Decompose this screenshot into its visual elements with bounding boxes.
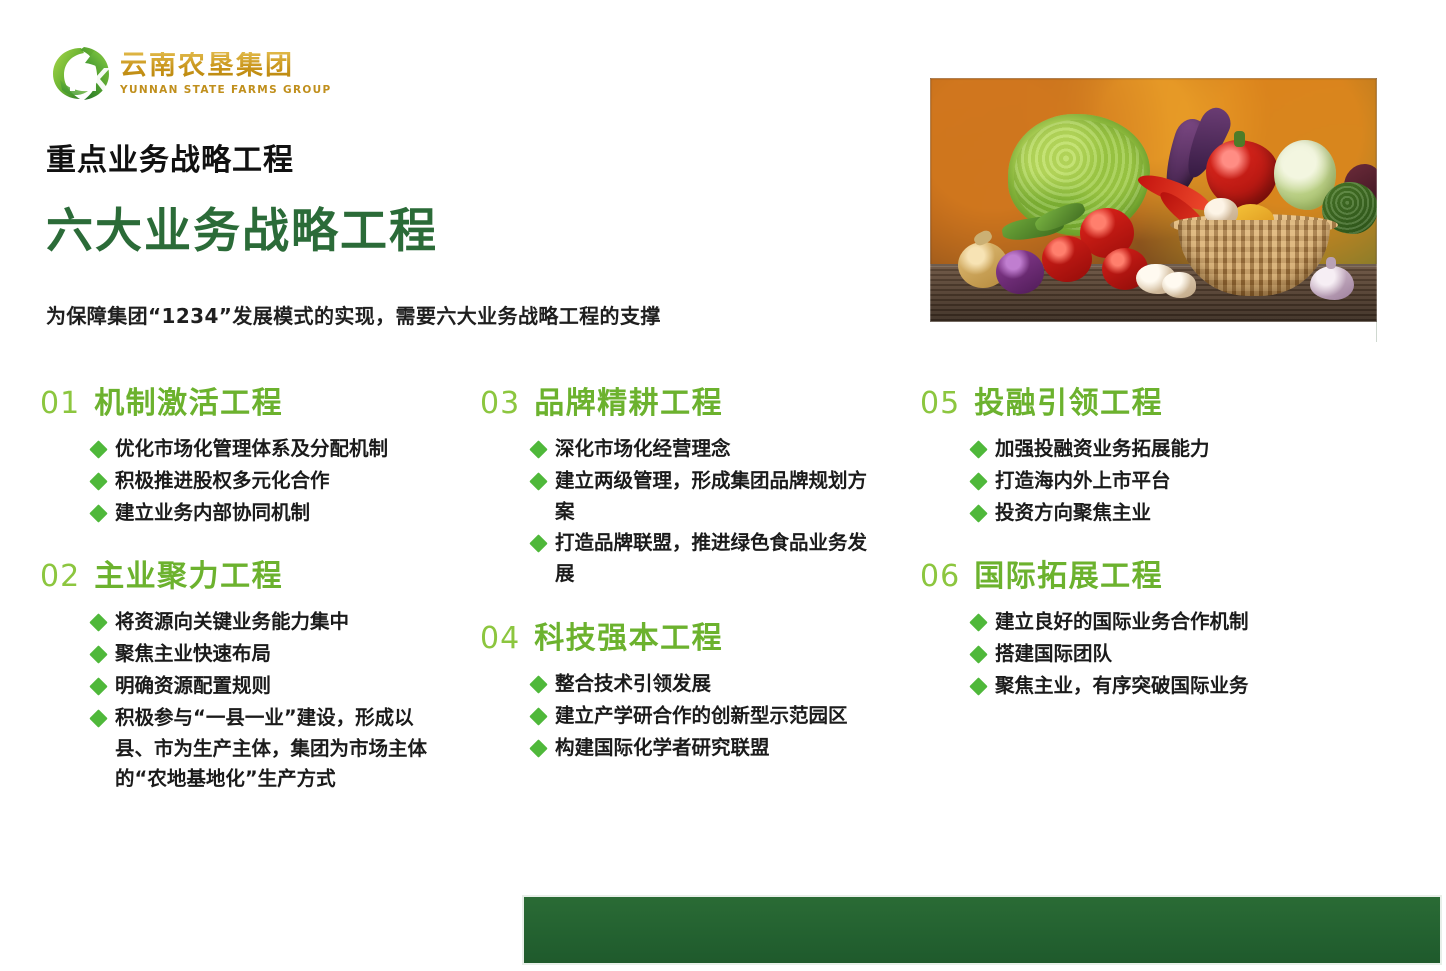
bullet-text: 深化市场化经营理念 bbox=[555, 434, 731, 465]
mushroom-icon bbox=[1162, 272, 1196, 298]
brand-name-cn: 云南农垦集团 bbox=[120, 52, 332, 80]
diamond-bullet-icon bbox=[529, 675, 547, 693]
hero-vegetables-photo bbox=[930, 78, 1377, 322]
strategy-title: 品牌精耕工程 bbox=[534, 378, 723, 422]
strategy-columns: 01 机制激活工程 优化市场化管理体系及分配机制 积极推进股权多元化合作 建立业… bbox=[40, 378, 1406, 796]
diamond-bullet-icon bbox=[89, 677, 107, 695]
slide-canvas: 云南农垦集团 YUNNAN STATE FARMS GROUP 重点业务战略工程… bbox=[0, 0, 1446, 971]
diamond-bullet-icon bbox=[969, 645, 987, 663]
strategy-column-1: 01 机制激活工程 优化市场化管理体系及分配机制 积极推进股权多元化合作 建立业… bbox=[40, 378, 480, 796]
bullet-text: 明确资源配置规则 bbox=[115, 671, 271, 702]
brand-name-en: YUNNAN STATE FARMS GROUP bbox=[120, 84, 332, 96]
strategy-bullet-list: 整合技术引领发展 建立产学研合作的创新型示范园区 构建国际化学者研究联盟 bbox=[480, 669, 920, 763]
list-item: 深化市场化经营理念 bbox=[532, 434, 920, 465]
slide-subtitle: 为保障集团“1234”发展模式的实现，需要六大业务战略工程的支撑 bbox=[46, 300, 661, 329]
leaf-nk-monogram-icon bbox=[50, 44, 112, 102]
diamond-bullet-icon bbox=[529, 472, 547, 490]
list-item: 投资方向聚焦主业 bbox=[972, 498, 1360, 529]
strategy-group-heading: 04 科技强本工程 bbox=[480, 613, 920, 657]
diamond-bullet-icon bbox=[969, 440, 987, 458]
list-item: 聚焦主业快速布局 bbox=[92, 639, 480, 670]
strategy-group-heading: 06 国际拓展工程 bbox=[920, 551, 1360, 595]
bullet-text: 积极参与“一县一业”建设，形成以县、市为生产主体，集团为市场主体的“农地基地化”… bbox=[115, 703, 433, 795]
brand-logo: 云南农垦集团 YUNNAN STATE FARMS GROUP bbox=[50, 44, 332, 102]
diamond-bullet-icon bbox=[969, 614, 987, 632]
bullet-text: 搭建国际团队 bbox=[995, 639, 1112, 670]
strategy-group-01: 01 机制激活工程 优化市场化管理体系及分配机制 积极推进股权多元化合作 建立业… bbox=[40, 378, 480, 529]
list-item: 建立良好的国际业务合作机制 bbox=[972, 607, 1360, 638]
list-item: 建立业务内部协同机制 bbox=[92, 498, 480, 529]
strategy-group-heading: 02 主业聚力工程 bbox=[40, 551, 480, 595]
diamond-bullet-icon bbox=[89, 504, 107, 522]
bullet-text: 打造品牌联盟，推进绿色食品业务发展 bbox=[555, 528, 877, 590]
diamond-bullet-icon bbox=[969, 472, 987, 490]
strategy-title: 科技强本工程 bbox=[534, 613, 723, 657]
list-item: 聚焦主业，有序突破国际业务 bbox=[972, 671, 1360, 702]
strategy-title: 国际拓展工程 bbox=[974, 551, 1163, 595]
strategy-group-heading: 05 投融引领工程 bbox=[920, 378, 1360, 422]
bullet-text: 优化市场化管理体系及分配机制 bbox=[115, 434, 388, 465]
diamond-bullet-icon bbox=[529, 535, 547, 553]
diamond-bullet-icon bbox=[529, 707, 547, 725]
strategy-group-heading: 01 机制激活工程 bbox=[40, 378, 480, 422]
bullet-text: 打造海内外上市平台 bbox=[995, 466, 1171, 497]
list-item: 积极推进股权多元化合作 bbox=[92, 466, 480, 497]
list-item: 明确资源配置规则 bbox=[92, 671, 480, 702]
strategy-number: 05 bbox=[920, 386, 960, 421]
footer-accent-bar bbox=[522, 895, 1442, 965]
strategy-group-05: 05 投融引领工程 加强投融资业务拓展能力 打造海内外上市平台 投资方向聚焦主业 bbox=[920, 378, 1360, 529]
strategy-title: 机制激活工程 bbox=[94, 378, 283, 422]
list-item: 建立两级管理，形成集团品牌规划方案 bbox=[532, 466, 920, 528]
strategy-bullet-list: 将资源向关键业务能力集中 聚焦主业快速布局 明确资源配置规则 积极参与“一县一业… bbox=[40, 607, 480, 795]
page-title: 六大业务战略工程 bbox=[46, 192, 438, 261]
bullet-text: 构建国际化学者研究联盟 bbox=[555, 733, 770, 764]
list-item: 积极参与“一县一业”建设，形成以县、市为生产主体，集团为市场主体的“农地基地化”… bbox=[92, 703, 480, 795]
diamond-bullet-icon bbox=[969, 504, 987, 522]
strategy-number: 04 bbox=[480, 621, 520, 656]
strategy-title: 主业聚力工程 bbox=[94, 551, 283, 595]
diamond-bullet-icon bbox=[89, 472, 107, 490]
strategy-column-3: 05 投融引领工程 加强投融资业务拓展能力 打造海内外上市平台 投资方向聚焦主业… bbox=[920, 378, 1360, 796]
bullet-text: 建立产学研合作的创新型示范园区 bbox=[555, 701, 848, 732]
list-item: 整合技术引领发展 bbox=[532, 669, 920, 700]
bullet-text: 建立业务内部协同机制 bbox=[115, 498, 310, 529]
diamond-bullet-icon bbox=[89, 709, 107, 727]
bullet-text: 积极推进股权多元化合作 bbox=[115, 466, 330, 497]
strategy-bullet-list: 建立良好的国际业务合作机制 搭建国际团队 聚焦主业，有序突破国际业务 bbox=[920, 607, 1360, 701]
diamond-bullet-icon bbox=[89, 440, 107, 458]
strategy-bullet-list: 深化市场化经营理念 建立两级管理，形成集团品牌规划方案 打造品牌联盟，推进绿色食… bbox=[480, 434, 920, 590]
strategy-bullet-list: 加强投融资业务拓展能力 打造海内外上市平台 投资方向聚焦主业 bbox=[920, 434, 1360, 528]
bullet-text: 加强投融资业务拓展能力 bbox=[995, 434, 1210, 465]
red-onion-icon bbox=[996, 250, 1044, 294]
strategy-group-06: 06 国际拓展工程 建立良好的国际业务合作机制 搭建国际团队 聚焦主业，有序突破… bbox=[920, 551, 1360, 702]
bullet-text: 聚焦主业快速布局 bbox=[115, 639, 271, 670]
bullet-text: 建立两级管理，形成集团品牌规划方案 bbox=[555, 466, 877, 528]
strategy-bullet-list: 优化市场化管理体系及分配机制 积极推进股权多元化合作 建立业务内部协同机制 bbox=[40, 434, 480, 528]
diamond-bullet-icon bbox=[89, 645, 107, 663]
list-item: 建立产学研合作的创新型示范园区 bbox=[532, 701, 920, 732]
list-item: 构建国际化学者研究联盟 bbox=[532, 733, 920, 764]
strategy-number: 02 bbox=[40, 559, 80, 594]
diamond-bullet-icon bbox=[969, 677, 987, 695]
list-item: 优化市场化管理体系及分配机制 bbox=[92, 434, 480, 465]
brand-wordmark: 云南农垦集团 YUNNAN STATE FARMS GROUP bbox=[120, 50, 332, 95]
bullet-text: 建立良好的国际业务合作机制 bbox=[995, 607, 1249, 638]
list-item: 将资源向关键业务能力集中 bbox=[92, 607, 480, 638]
list-item: 打造海内外上市平台 bbox=[972, 466, 1360, 497]
bullet-text: 投资方向聚焦主业 bbox=[995, 498, 1151, 529]
bullet-text: 整合技术引领发展 bbox=[555, 669, 711, 700]
strategy-group-heading: 03 品牌精耕工程 bbox=[480, 378, 920, 422]
slide-kicker: 重点业务战略工程 bbox=[46, 135, 294, 179]
bullet-text: 将资源向关键业务能力集中 bbox=[115, 607, 349, 638]
list-item: 搭建国际团队 bbox=[972, 639, 1360, 670]
strategy-column-2: 03 品牌精耕工程 深化市场化经营理念 建立两级管理，形成集团品牌规划方案 打造… bbox=[480, 378, 920, 796]
strategy-group-02: 02 主业聚力工程 将资源向关键业务能力集中 聚焦主业快速布局 明确资源配置规则… bbox=[40, 551, 480, 796]
list-item: 打造品牌联盟，推进绿色食品业务发展 bbox=[532, 528, 920, 590]
strategy-number: 01 bbox=[40, 386, 80, 421]
strategy-title: 投融引领工程 bbox=[974, 378, 1163, 422]
bullet-text: 聚焦主业，有序突破国际业务 bbox=[995, 671, 1249, 702]
diamond-bullet-icon bbox=[529, 440, 547, 458]
strategy-group-04: 04 科技强本工程 整合技术引领发展 建立产学研合作的创新型示范园区 构建国际化… bbox=[480, 613, 920, 764]
list-item: 加强投融资业务拓展能力 bbox=[972, 434, 1360, 465]
strategy-number: 06 bbox=[920, 559, 960, 594]
strategy-group-03: 03 品牌精耕工程 深化市场化经营理念 建立两级管理，形成集团品牌规划方案 打造… bbox=[480, 378, 920, 591]
garlic-icon bbox=[1310, 266, 1354, 300]
diamond-bullet-icon bbox=[529, 739, 547, 757]
hero-edge-seam bbox=[1376, 322, 1377, 342]
tomato-icon bbox=[1042, 236, 1092, 282]
diamond-bullet-icon bbox=[89, 614, 107, 632]
strategy-number: 03 bbox=[480, 386, 520, 421]
